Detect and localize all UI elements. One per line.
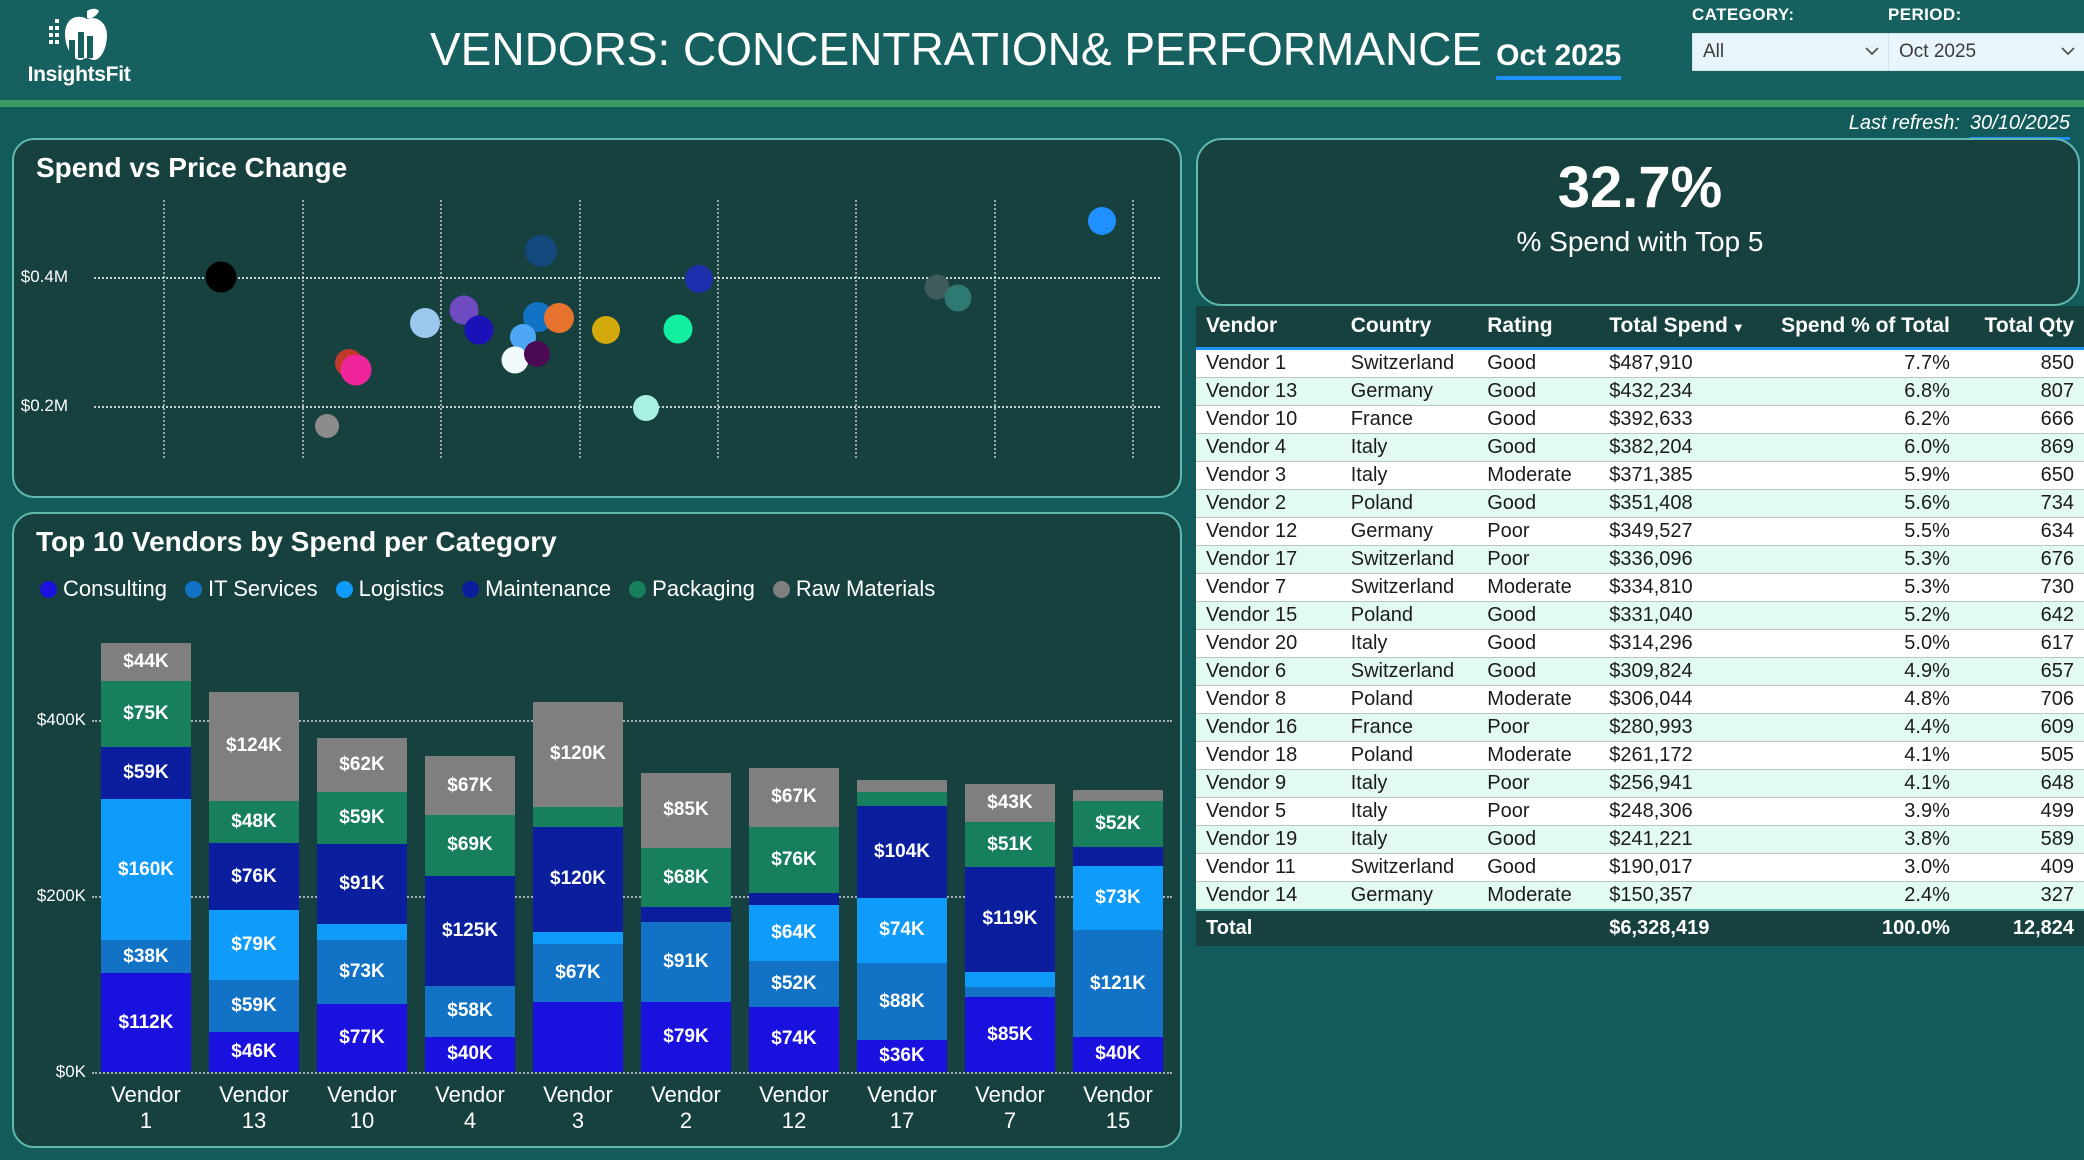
table-cell-country: France (1341, 405, 1477, 433)
bar-segment[interactable]: $120K (533, 702, 623, 808)
bar-x-tick-label: Vendor3 (524, 1082, 632, 1134)
bar-segment[interactable]: $79K (641, 1002, 731, 1072)
table-cell-qty: 499 (1960, 797, 2084, 825)
bar-segment[interactable]: $59K (101, 747, 191, 799)
category-filter-value: All (1703, 41, 1724, 62)
bar-segment[interactable] (965, 972, 1055, 987)
table-cell-pct: 6.0% (1765, 433, 1960, 461)
table-cell-vendor: Vendor 8 (1196, 685, 1341, 713)
table-cell-rating: Good (1477, 405, 1599, 433)
sort-desc-caret-icon: ▼ (1732, 320, 1745, 335)
bar-segment[interactable]: $73K (317, 940, 407, 1004)
table-cell-qty: 706 (1960, 685, 2084, 713)
table-cell-country: France (1341, 713, 1477, 741)
top-vendors-by-spend-card: Top 10 Vendors by Spend per Category Con… (12, 512, 1182, 1148)
bar-segment[interactable]: $59K (317, 792, 407, 844)
table-cell-rating: Poor (1477, 797, 1599, 825)
bar-segment[interactable] (965, 987, 1055, 998)
table-cell-vendor: Vendor 13 (1196, 377, 1341, 405)
table-header-qty[interactable]: Total Qty (1960, 306, 2084, 348)
bar-x-tick-label: Vendor1 (92, 1082, 200, 1134)
table-cell-qty: 650 (1960, 461, 2084, 489)
chevron-down-icon (1865, 47, 1879, 56)
legend-color-swatch-icon (462, 581, 479, 598)
bar-x-tick-label: Vendor7 (956, 1082, 1064, 1134)
bar-segment[interactable]: $120K (533, 827, 623, 933)
bar-segment[interactable]: $76K (209, 843, 299, 910)
bar-column[interactable]: $67K$69K$125K$58K$40K (425, 756, 515, 1072)
bar-x-tick-label: Vendor17 (848, 1082, 956, 1134)
table-cell-vendor: Vendor 1 (1196, 348, 1341, 377)
table-cell-qty: 609 (1960, 713, 2084, 741)
bar-segment[interactable]: $77K (317, 1004, 407, 1072)
table-cell-pct: 5.6% (1765, 489, 1960, 517)
bar-segment[interactable]: $51K (965, 822, 1055, 867)
table-cell-rating: Good (1477, 489, 1599, 517)
brand-name: InsightsFit (14, 64, 144, 86)
bar-segment[interactable]: $52K (1073, 801, 1163, 847)
table-total-vendor: Total (1196, 910, 1341, 946)
table-row[interactable]: Vendor 17SwitzerlandPoor$336,0965.3%676 (1196, 545, 2084, 573)
brand-logo: InsightsFit (14, 4, 144, 96)
table-cell-vendor: Vendor 7 (1196, 573, 1341, 601)
table-cell-qty: 589 (1960, 825, 2084, 853)
table-total-qty: 12,824 (1960, 910, 2084, 946)
legend-label: IT Services (208, 576, 318, 602)
table-cell-spend: $190,017 (1599, 853, 1764, 881)
bar-segment[interactable]: $52K (749, 961, 839, 1007)
bar-segment[interactable]: $79K (209, 910, 299, 980)
table-cell-country: Italy (1341, 629, 1477, 657)
bar-segment[interactable] (317, 924, 407, 940)
page-title-text: VENDORS: CONCENTRATION& PERFORMANCE (430, 23, 1482, 75)
bar-segment[interactable] (641, 907, 731, 922)
table-row[interactable]: Vendor 7SwitzerlandModerate$334,8105.3%7… (1196, 573, 2084, 601)
bar-segment[interactable]: $46K (209, 1032, 299, 1072)
table-cell-rating: Poor (1477, 769, 1599, 797)
table-cell-pct: 4.1% (1765, 741, 1960, 769)
bar-segment[interactable] (533, 807, 623, 826)
bar-segment[interactable] (533, 932, 623, 943)
last-refresh-label: Last refresh: (1849, 112, 1960, 134)
table-cell-country: Switzerland (1341, 853, 1477, 881)
bar-segment[interactable]: $67K (533, 944, 623, 1003)
table-cell-vendor: Vendor 9 (1196, 769, 1341, 797)
table-row[interactable]: Vendor 12GermanyPoor$349,5275.5%634 (1196, 517, 2084, 545)
last-refresh-value: 30/10/2025 (1970, 112, 2070, 140)
legend-item[interactable]: Logistics (336, 576, 445, 602)
bar-chart-title: Top 10 Vendors by Spend per Category (36, 526, 557, 558)
table-row[interactable]: Vendor 13GermanyGood$432,2346.8%807 (1196, 377, 2084, 405)
bar-column[interactable]: $62K$59K$91K$73K$77K (317, 738, 407, 1072)
table-cell-qty: 409 (1960, 853, 2084, 881)
table-row[interactable]: Vendor 3ItalyModerate$371,3855.9%650 (1196, 461, 2084, 489)
scatter-y-axis: $0.2M$0.4M (94, 200, 1160, 458)
bar-segment[interactable]: $74K (857, 898, 947, 963)
legend-label: Logistics (359, 576, 445, 602)
table-total-pct: 100.0% (1765, 910, 1960, 946)
table-cell-rating: Poor (1477, 517, 1599, 545)
scatter-y-tick-label: $0.4M (21, 267, 68, 287)
table-cell-pct: 5.0% (1765, 629, 1960, 657)
table-row[interactable]: Vendor 6SwitzerlandGood$309,8244.9%657 (1196, 657, 2084, 685)
bar-chart-plot-area[interactable]: $0K$200K$400K$44K$75K$59K$160K$38K$112KV… (92, 632, 1172, 1072)
table-cell-rating: Good (1477, 825, 1599, 853)
table-row[interactable]: Vendor 10FranceGood$392,6336.2%666 (1196, 405, 2084, 433)
bar-segment[interactable]: $76K (749, 827, 839, 894)
table-total-rating (1477, 910, 1599, 946)
bar-segment[interactable]: $62K (317, 738, 407, 793)
table-cell-qty: 648 (1960, 769, 2084, 797)
table-cell-vendor: Vendor 2 (1196, 489, 1341, 517)
bar-segment[interactable]: $74K (749, 1007, 839, 1072)
table-cell-spend: $150,357 (1599, 881, 1764, 910)
bar-column[interactable]: $43K$51K$119K$85K (965, 784, 1055, 1072)
legend-label: Consulting (63, 576, 167, 602)
table-cell-vendor: Vendor 17 (1196, 545, 1341, 573)
bar-segment[interactable]: $160K (101, 799, 191, 940)
bar-segment[interactable]: $85K (965, 997, 1055, 1072)
bar-gridline (92, 1072, 1172, 1074)
table-cell-qty: 642 (1960, 601, 2084, 629)
vendor-table[interactable]: VendorCountryRatingTotal Spend▼Spend % o… (1196, 306, 2084, 946)
table-cell-country: Germany (1341, 881, 1477, 910)
bar-x-tick-label: Vendor13 (200, 1082, 308, 1134)
table-row[interactable]: Vendor 2PolandGood$351,4085.6%734 (1196, 489, 2084, 517)
bar-column[interactable]: $85K$68K$91K$79K (641, 773, 731, 1072)
bar-segment[interactable]: $88K (857, 963, 947, 1040)
table-cell-spend: $306,044 (1599, 685, 1764, 713)
bar-segment[interactable]: $85K (641, 773, 731, 848)
bar-segment[interactable]: $43K (965, 784, 1055, 822)
table-cell-spend: $331,040 (1599, 601, 1764, 629)
table-cell-spend: $336,096 (1599, 545, 1764, 573)
table-cell-pct: 3.0% (1765, 853, 1960, 881)
bar-segment[interactable]: $36K (857, 1040, 947, 1072)
table-cell-rating: Good (1477, 657, 1599, 685)
vendor-table-header: VendorCountryRatingTotal Spend▼Spend % o… (1196, 306, 2084, 348)
table-cell-pct: 4.9% (1765, 657, 1960, 685)
table-cell-qty: 730 (1960, 573, 2084, 601)
table-cell-country: Switzerland (1341, 348, 1477, 377)
table-cell-pct: 5.2% (1765, 601, 1960, 629)
table-cell-country: Poland (1341, 685, 1477, 713)
legend-color-swatch-icon (336, 581, 353, 598)
table-cell-pct: 4.8% (1765, 685, 1960, 713)
bar-segment[interactable]: $38K (101, 940, 191, 973)
bar-segment[interactable]: $125K (425, 876, 515, 986)
table-cell-rating: Good (1477, 433, 1599, 461)
table-cell-vendor: Vendor 19 (1196, 825, 1341, 853)
table-header-rating[interactable]: Rating (1477, 306, 1599, 348)
table-cell-pct: 5.9% (1765, 461, 1960, 489)
table-header-spend[interactable]: Total Spend▼ (1599, 306, 1764, 348)
table-cell-country: Switzerland (1341, 573, 1477, 601)
bar-y-tick-label: $200K (37, 886, 86, 906)
bar-column[interactable]: $104K$74K$88K$36K (857, 780, 947, 1072)
table-row[interactable]: Vendor 4ItalyGood$382,2046.0%869 (1196, 433, 2084, 461)
bar-segment[interactable]: $68K (641, 848, 731, 908)
table-cell-spend: $382,204 (1599, 433, 1764, 461)
category-filter-select[interactable]: All (1692, 33, 1892, 71)
period-filter-value: Oct 2025 (1899, 41, 1976, 62)
table-cell-vendor: Vendor 5 (1196, 797, 1341, 825)
table-cell-country: Poland (1341, 741, 1477, 769)
table-cell-spend: $392,633 (1599, 405, 1764, 433)
table-cell-rating: Moderate (1477, 461, 1599, 489)
table-cell-vendor: Vendor 20 (1196, 629, 1341, 657)
table-cell-rating: Good (1477, 601, 1599, 629)
bar-segment[interactable] (533, 1002, 623, 1072)
bar-segment[interactable]: $58K (425, 986, 515, 1037)
table-cell-vendor: Vendor 4 (1196, 433, 1341, 461)
bar-segment[interactable]: $112K (101, 973, 191, 1072)
legend-item[interactable]: IT Services (185, 576, 318, 602)
bar-segment[interactable]: $64K (749, 905, 839, 961)
category-filter: CATEGORY: All (1692, 5, 1892, 71)
table-cell-spend: $432,234 (1599, 377, 1764, 405)
bar-x-tick-label: Vendor15 (1064, 1082, 1172, 1134)
bar-x-tick-label: Vendor10 (308, 1082, 416, 1134)
bar-x-tick-label: Vendor12 (740, 1082, 848, 1134)
table-cell-pct: 5.3% (1765, 573, 1960, 601)
bar-segment[interactable]: $44K (101, 643, 191, 682)
legend-color-swatch-icon (185, 581, 202, 598)
bar-column[interactable]: $67K$76K$64K$52K$74K (749, 768, 839, 1072)
bar-segment[interactable]: $59K (209, 980, 299, 1032)
bar-segment[interactable]: $104K (857, 806, 947, 898)
table-cell-qty: 634 (1960, 517, 2084, 545)
table-row[interactable]: Vendor 19ItalyGood$241,2213.8%589 (1196, 825, 2084, 853)
table-cell-vendor: Vendor 18 (1196, 741, 1341, 769)
table-row[interactable]: Vendor 8PolandModerate$306,0444.8%706 (1196, 685, 2084, 713)
table-cell-spend: $351,408 (1599, 489, 1764, 517)
table-cell-spend: $256,941 (1599, 769, 1764, 797)
table-row[interactable]: Vendor 16FrancePoor$280,9934.4%609 (1196, 713, 2084, 741)
bar-segment[interactable]: $124K (209, 692, 299, 801)
table-cell-pct: 4.4% (1765, 713, 1960, 741)
table-cell-pct: 6.8% (1765, 377, 1960, 405)
bar-segment[interactable]: $91K (317, 844, 407, 924)
period-filter: PERIOD: Oct 2025 (1888, 5, 2084, 71)
table-cell-qty: 869 (1960, 433, 2084, 461)
bar-column[interactable]: $120K$120K$67K (533, 702, 623, 1072)
bar-segment[interactable]: $40K (1073, 1037, 1163, 1072)
table-cell-pct: 3.9% (1765, 797, 1960, 825)
bar-segment[interactable] (857, 792, 947, 806)
page-title-period-badge: Oct 2025 (1496, 39, 1621, 80)
period-filter-label: PERIOD: (1888, 5, 2084, 25)
spend-vs-price-change-card: Spend vs Price Change $0.2M$0.4M -30%-20… (12, 138, 1182, 498)
table-cell-spend: $487,910 (1599, 348, 1764, 377)
table-cell-qty: 734 (1960, 489, 2084, 517)
legend-item[interactable]: Maintenance (462, 576, 611, 602)
table-row[interactable]: Vendor 9ItalyPoor$256,9414.1%648 (1196, 769, 2084, 797)
bar-y-tick-label: $400K (37, 710, 86, 730)
scatter-y-tick-label: $0.2M (21, 396, 68, 416)
bar-column[interactable]: $52K$73K$121K$40K (1073, 790, 1163, 1072)
table-cell-spend: $349,527 (1599, 517, 1764, 545)
table-cell-vendor: Vendor 6 (1196, 657, 1341, 685)
table-cell-spend: $248,306 (1599, 797, 1764, 825)
bar-segment[interactable]: $121K (1073, 930, 1163, 1036)
table-cell-pct: 3.8% (1765, 825, 1960, 853)
header-divider (0, 100, 2084, 107)
bar-segment[interactable]: $40K (425, 1037, 515, 1072)
table-cell-rating: Moderate (1477, 573, 1599, 601)
legend-label: Maintenance (485, 576, 611, 602)
table-cell-vendor: Vendor 16 (1196, 713, 1341, 741)
legend-color-swatch-icon (629, 581, 646, 598)
vendor-table-body: Vendor 1SwitzerlandGood$487,9107.7%850Ve… (1196, 348, 2084, 910)
table-cell-qty: 850 (1960, 348, 2084, 377)
vendor-table-footer: Total$6,328,419100.0%12,824 (1196, 910, 2084, 946)
table-cell-country: Switzerland (1341, 545, 1477, 573)
table-cell-rating: Good (1477, 377, 1599, 405)
table-cell-pct: 4.1% (1765, 769, 1960, 797)
bar-chart-legend: ConsultingIT ServicesLogisticsMaintenanc… (40, 576, 948, 602)
bar-segment[interactable]: $119K (965, 867, 1055, 972)
table-cell-spend: $334,810 (1599, 573, 1764, 601)
table-header-country[interactable]: Country (1341, 306, 1477, 348)
table-cell-qty: 505 (1960, 741, 2084, 769)
table-total-country (1341, 910, 1477, 946)
table-cell-rating: Good (1477, 348, 1599, 377)
bar-segment[interactable]: $67K (425, 756, 515, 815)
kpi-label: % Spend with Top 5 (1198, 226, 2082, 258)
page-title: VENDORS: CONCENTRATION& PERFORMANCEOct 2… (430, 22, 1430, 80)
table-header-pct[interactable]: Spend % of Total (1765, 306, 1960, 348)
table-cell-pct: 5.5% (1765, 517, 1960, 545)
bar-x-tick-label: Vendor2 (632, 1082, 740, 1134)
table-cell-country: Germany (1341, 377, 1477, 405)
legend-label: Packaging (652, 576, 755, 602)
table-cell-country: Italy (1341, 825, 1477, 853)
table-cell-rating: Moderate (1477, 741, 1599, 769)
table-cell-qty: 807 (1960, 377, 2084, 405)
legend-item[interactable]: Packaging (629, 576, 755, 602)
table-row[interactable]: Vendor 15PolandGood$331,0405.2%642 (1196, 601, 2084, 629)
bar-segment[interactable] (857, 780, 947, 792)
table-cell-spend: $280,993 (1599, 713, 1764, 741)
table-header-vendor[interactable]: Vendor (1196, 306, 1341, 348)
legend-item[interactable]: Consulting (40, 576, 167, 602)
table-cell-qty: 676 (1960, 545, 2084, 573)
table-cell-country: Italy (1341, 461, 1477, 489)
bar-segment[interactable]: $67K (749, 768, 839, 827)
table-cell-rating: Poor (1477, 713, 1599, 741)
legend-label: Raw Materials (796, 576, 935, 602)
table-row[interactable]: Vendor 11SwitzerlandGood$190,0173.0%409 (1196, 853, 2084, 881)
chevron-down-icon (2061, 47, 2075, 56)
table-cell-spend: $371,385 (1599, 461, 1764, 489)
bar-segment[interactable] (749, 893, 839, 904)
table-total-row: Total$6,328,419100.0%12,824 (1196, 910, 2084, 946)
table-cell-country: Italy (1341, 797, 1477, 825)
bar-segment[interactable]: $91K (641, 922, 731, 1002)
table-cell-pct: 5.3% (1765, 545, 1960, 573)
table-cell-pct: 6.2% (1765, 405, 1960, 433)
legend-item[interactable]: Raw Materials (773, 576, 935, 602)
legend-color-swatch-icon (773, 581, 790, 598)
table-cell-rating: Moderate (1477, 685, 1599, 713)
table-cell-country: Poland (1341, 489, 1477, 517)
bar-segment[interactable]: $73K (1073, 866, 1163, 930)
table-cell-spend: $241,221 (1599, 825, 1764, 853)
bar-segment[interactable]: $48K (209, 801, 299, 843)
table-cell-qty: 327 (1960, 881, 2084, 910)
bar-x-tick-label: Vendor4 (416, 1082, 524, 1134)
apple-bar-chart-logo-icon (47, 6, 111, 64)
table-cell-country: Switzerland (1341, 657, 1477, 685)
last-refresh: Last refresh:30/10/2025 (1849, 112, 2070, 140)
legend-color-swatch-icon (40, 581, 57, 598)
bar-column[interactable]: $124K$48K$76K$79K$59K$46K (209, 692, 299, 1072)
table-row[interactable]: Vendor 20ItalyGood$314,2965.0%617 (1196, 629, 2084, 657)
kpi-value: 32.7% (1198, 154, 2082, 221)
table-cell-country: Italy (1341, 433, 1477, 461)
table-cell-pct: 2.4% (1765, 881, 1960, 910)
table-cell-rating: Moderate (1477, 881, 1599, 910)
table-cell-qty: 617 (1960, 629, 2084, 657)
table-cell-country: Italy (1341, 769, 1477, 797)
table-cell-rating: Poor (1477, 545, 1599, 573)
bar-segment[interactable]: $75K (101, 681, 191, 747)
table-cell-spend: $309,824 (1599, 657, 1764, 685)
table-header-row: VendorCountryRatingTotal Spend▼Spend % o… (1196, 306, 2084, 348)
table-cell-vendor: Vendor 14 (1196, 881, 1341, 910)
table-cell-country: Poland (1341, 601, 1477, 629)
bar-segment[interactable]: $69K (425, 815, 515, 876)
table-total-spend: $6,328,419 (1599, 910, 1764, 946)
table-cell-country: Germany (1341, 517, 1477, 545)
table-cell-spend: $314,296 (1599, 629, 1764, 657)
kpi-card-spend-top5: 32.7% % Spend with Top 5 (1196, 138, 2080, 306)
bar-column[interactable]: $44K$75K$59K$160K$38K$112K (101, 643, 191, 1072)
table-cell-qty: 657 (1960, 657, 2084, 685)
table-cell-vendor: Vendor 15 (1196, 601, 1341, 629)
table-row[interactable]: Vendor 18PolandModerate$261,1724.1%505 (1196, 741, 2084, 769)
table-cell-qty: 666 (1960, 405, 2084, 433)
table-row[interactable]: Vendor 5ItalyPoor$248,3063.9%499 (1196, 797, 2084, 825)
table-row[interactable]: Vendor 1SwitzerlandGood$487,9107.7%850 (1196, 348, 2084, 377)
table-cell-rating: Good (1477, 629, 1599, 657)
table-cell-vendor: Vendor 10 (1196, 405, 1341, 433)
table-row[interactable]: Vendor 14GermanyModerate$150,3572.4%327 (1196, 881, 2084, 910)
table-cell-rating: Good (1477, 853, 1599, 881)
category-filter-label: CATEGORY: (1692, 5, 1892, 25)
table-cell-vendor: Vendor 3 (1196, 461, 1341, 489)
scatter-chart-title: Spend vs Price Change (36, 152, 347, 184)
table-cell-spend: $261,172 (1599, 741, 1764, 769)
table-cell-vendor: Vendor 11 (1196, 853, 1341, 881)
period-filter-select[interactable]: Oct 2025 (1888, 33, 2084, 71)
table-cell-vendor: Vendor 12 (1196, 517, 1341, 545)
bar-segment[interactable] (1073, 847, 1163, 866)
bar-y-tick-label: $0K (56, 1062, 86, 1082)
bar-segment[interactable] (1073, 790, 1163, 801)
table-cell-pct: 7.7% (1765, 348, 1960, 377)
